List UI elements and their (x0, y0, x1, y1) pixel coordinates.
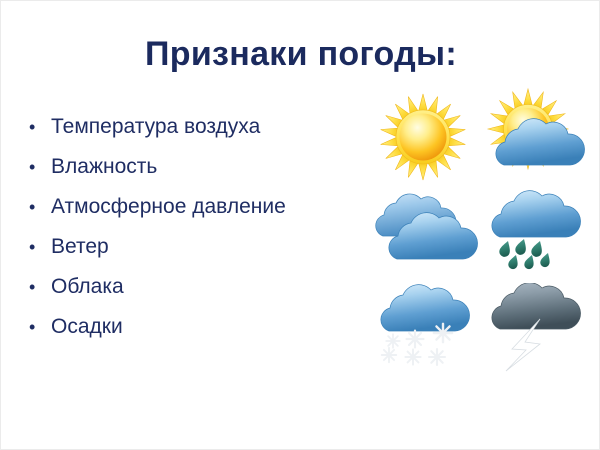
cloud-shape (492, 191, 581, 237)
cloud-shape (381, 285, 470, 331)
sun-icon (371, 87, 482, 187)
list-item-label: Температура воздуха (51, 107, 379, 147)
bullet-marker-icon: • (29, 147, 51, 187)
list-item: • Облака (29, 267, 379, 307)
weather-signs-list: • Температура воздуха • Влажность • Атмо… (29, 107, 379, 347)
list-item-label: Облака (51, 267, 379, 307)
list-item-label: Ветер (51, 227, 379, 267)
list-item-label: Атмосферное давление (51, 187, 379, 227)
list-item: • Температура воздуха (29, 107, 379, 147)
rain-cloud-icon (482, 187, 593, 287)
raindrops (498, 237, 552, 270)
bullet-marker-icon: • (29, 267, 51, 307)
list-item: • Ветер (29, 227, 379, 267)
page-title: Признаки погоды: (1, 35, 600, 74)
snow-cloud-icon (371, 283, 482, 383)
sun-behind-cloud-icon (482, 87, 593, 187)
bullet-marker-icon: • (29, 107, 51, 147)
clouds-icon (371, 187, 482, 287)
storm-cloud-shape (492, 283, 581, 329)
list-item-label: Влажность (51, 147, 379, 187)
bullet-marker-icon: • (29, 187, 51, 227)
weather-icon-grid (371, 87, 593, 387)
bullet-marker-icon: • (29, 227, 51, 267)
list-item: • Атмосферное давление (29, 187, 379, 227)
thunderstorm-cloud-icon (482, 283, 593, 383)
list-item-label: Осадки (51, 307, 379, 347)
list-item: • Осадки (29, 307, 379, 347)
slide-canvas: Признаки погоды: • Температура воздуха •… (0, 0, 600, 450)
list-item: • Влажность (29, 147, 379, 187)
bullet-marker-icon: • (29, 307, 51, 347)
